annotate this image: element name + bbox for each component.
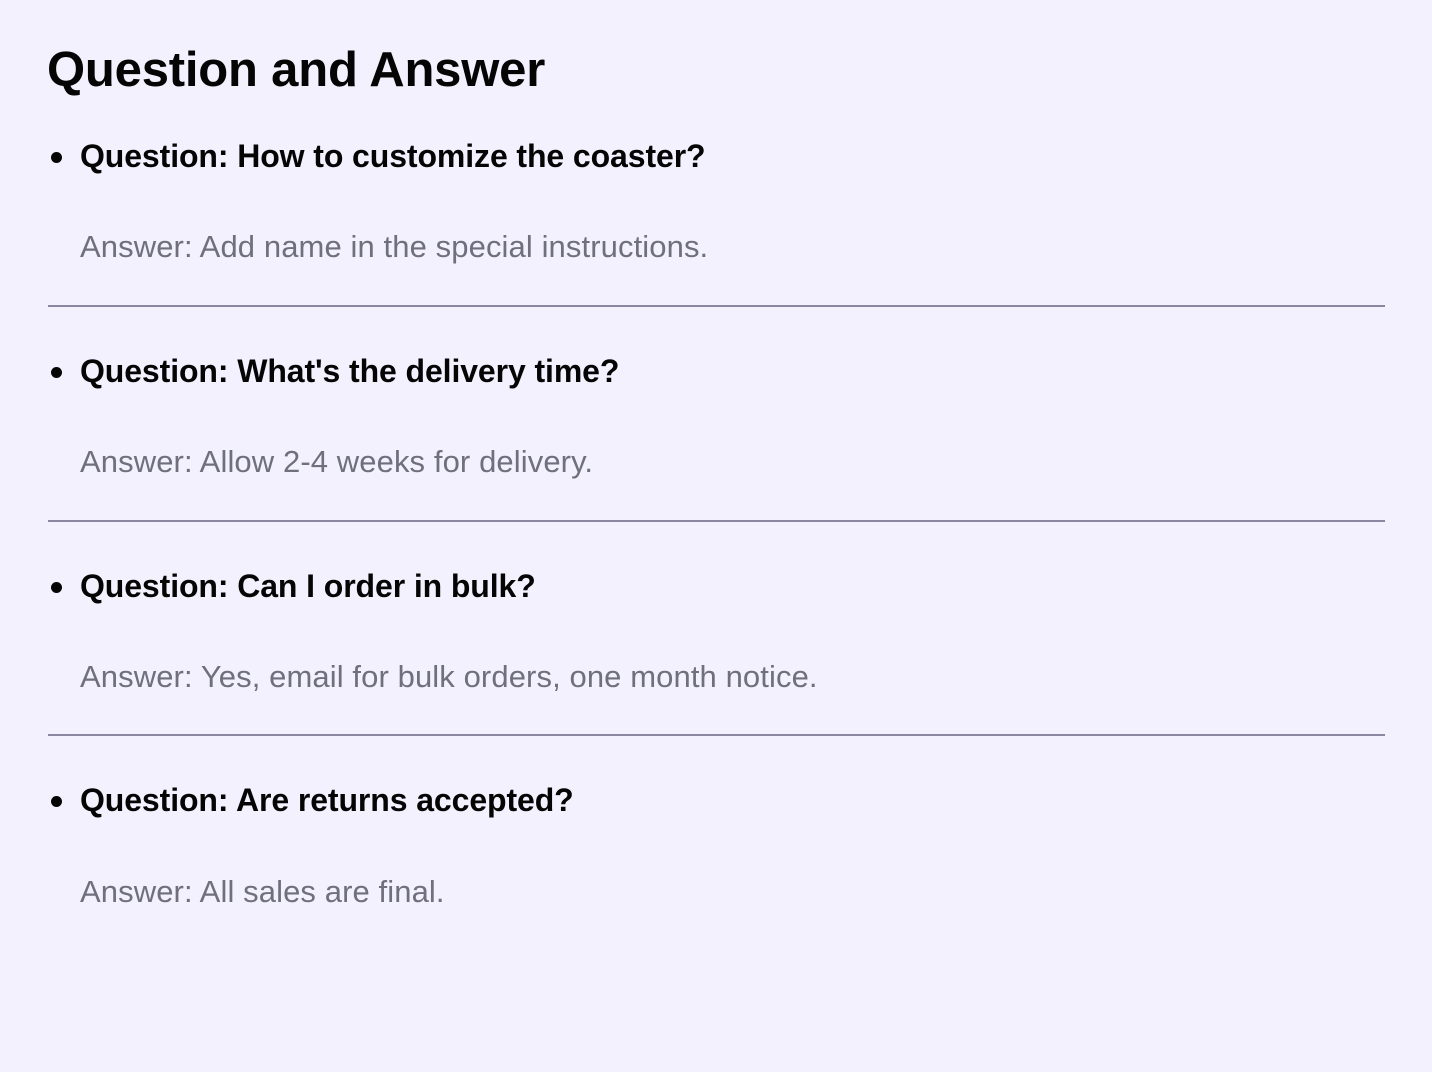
qa-question-text: Question: Can I order in bulk? — [80, 566, 536, 608]
qa-question-text: Question: Are returns accepted? — [80, 780, 574, 822]
qa-divider — [48, 520, 1385, 522]
qa-item: Question: What's the delivery time? Answ… — [47, 315, 1385, 522]
qa-question-row[interactable]: Question: Are returns accepted? — [47, 744, 1385, 822]
qa-question-row[interactable]: Question: How to customize the coaster? — [47, 100, 1385, 178]
qa-question-text: Question: How to customize the coaster? — [80, 136, 706, 178]
bullet-dot-icon — [51, 582, 62, 593]
qa-item: Question: Can I order in bulk? Answer: Y… — [47, 530, 1385, 737]
qa-question-row[interactable]: Question: What's the delivery time? — [47, 315, 1385, 393]
qa-item: Question: Are returns accepted? Answer: … — [47, 744, 1385, 912]
qa-divider — [48, 305, 1385, 307]
page-title: Question and Answer — [47, 0, 1385, 100]
qa-question-text: Question: What's the delivery time? — [80, 351, 619, 393]
qa-answer-text: Answer: Add name in the special instruct… — [47, 177, 1385, 267]
qa-answer-text: Answer: Allow 2-4 weeks for delivery. — [47, 392, 1385, 482]
qa-question-row[interactable]: Question: Can I order in bulk? — [47, 530, 1385, 608]
qa-answer-text: Answer: Yes, email for bulk orders, one … — [47, 607, 1385, 697]
bullet-dot-icon — [51, 367, 62, 378]
bullet-dot-icon — [51, 796, 62, 807]
qa-page: Question and Answer Question: How to cus… — [0, 0, 1432, 1072]
bullet-dot-icon — [51, 152, 62, 163]
qa-answer-text: Answer: All sales are final. — [47, 822, 1385, 912]
qa-divider — [48, 734, 1385, 736]
qa-item: Question: How to customize the coaster? … — [47, 100, 1385, 307]
qa-list: Question: How to customize the coaster? … — [47, 100, 1385, 913]
